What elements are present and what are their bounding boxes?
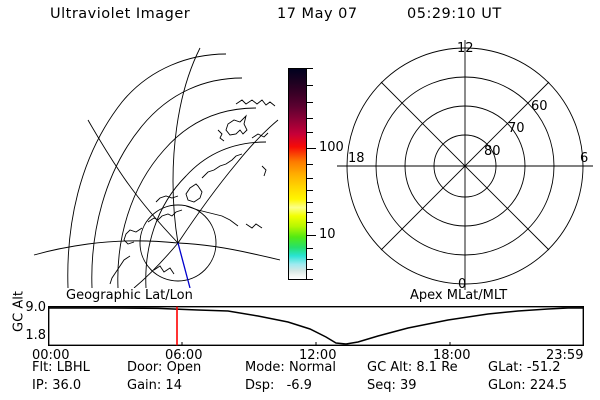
status-mode: Mode: Normal <box>245 360 336 375</box>
colorbar-tick-minor <box>307 178 313 179</box>
orbit-ytick-top: 9.0 <box>18 300 46 315</box>
status-dsp: Dsp: -6.9 <box>245 378 312 393</box>
colorbar-tick-minor <box>307 132 313 133</box>
status-seq: Seq: 39 <box>367 378 417 393</box>
geographic-projection-svg <box>30 38 280 288</box>
status-ip-value: 36.0 <box>52 378 81 393</box>
polar-mlt-label-6: 6 <box>580 151 588 166</box>
orbit-caption-right: Apex MLat/MLT <box>410 288 507 303</box>
colorbar-tick-minor <box>307 222 313 223</box>
status-flt-label: Flt: <box>32 360 53 375</box>
colorbar-tick-minor <box>307 279 313 280</box>
observation-time: 05:29:10 UT <box>407 6 502 22</box>
colorbar-gradient[interactable] <box>288 68 307 280</box>
ultraviolet-imager-window: Ultraviolet Imager 17 May 07 05:29:10 UT <box>0 0 600 400</box>
status-mode-value: Normal <box>289 360 336 375</box>
status-door-value: Open <box>167 360 202 375</box>
colorbar-tick-minor <box>307 269 313 270</box>
geo-lat-arc-2 <box>92 78 242 288</box>
polar-grid-svg: 12 6 0 18 60 70 80 <box>334 38 596 290</box>
orbit-altitude-trace <box>49 308 583 344</box>
intensity-colorbar-group: photon cm-2s-1 100 10 <box>262 60 332 290</box>
instrument-title: Ultraviolet Imager <box>50 6 190 22</box>
observation-date: 17 May 07 <box>277 6 358 22</box>
status-flt-value: LBHL <box>57 360 90 375</box>
geo-lon-5 <box>34 241 178 255</box>
polar-lat-label-60: 60 <box>531 99 548 114</box>
status-glat: GLat: -51.2 <box>488 360 561 375</box>
status-gain-value: 14 <box>165 378 182 393</box>
status-glon: GLon: 224.5 <box>488 378 567 393</box>
colorbar-tick-minor <box>307 85 313 86</box>
orbit-plot-svg <box>48 306 584 346</box>
status-door: Door: Open <box>127 360 201 375</box>
status-gain-label: Gain: <box>127 378 161 393</box>
colorbar-tick-minor <box>307 164 313 165</box>
colorbar-tick-minor <box>307 248 313 249</box>
status-ip-label: IP: <box>32 378 48 393</box>
status-gc-alt-value: 8.1 Re <box>416 360 457 375</box>
orbit-ytick-bottom: 1.8 <box>18 328 46 343</box>
status-dsp-label: Dsp: <box>245 378 274 393</box>
colorbar-tick-minor <box>307 68 313 69</box>
geo-lon-1 <box>173 48 200 243</box>
status-glat-value: -51.2 <box>527 360 561 375</box>
colorbar-tick-minor <box>307 202 313 203</box>
status-glat-label: GLat: <box>488 360 523 375</box>
orbit-plot-area[interactable] <box>48 306 584 346</box>
status-readout-block: Flt: LBHL IP: 36.0 Door: Open Gain: 14 M… <box>0 360 600 400</box>
status-door-label: Door: <box>127 360 162 375</box>
colorbar-tick-major-100 <box>307 148 316 149</box>
colorbar-tick-minor <box>307 212 313 213</box>
polar-mlt-label-12: 12 <box>457 41 474 56</box>
polar-mlt-label-18: 18 <box>348 151 365 166</box>
colorbar-tick-minor <box>307 102 313 103</box>
status-gc-alt: GC Alt: 8.1 Re <box>367 360 458 375</box>
status-seq-label: Seq: <box>367 378 396 393</box>
header-bar: Ultraviolet Imager 17 May 07 05:29:10 UT <box>0 6 600 30</box>
status-mode-label: Mode: <box>245 360 285 375</box>
polar-lat-label-70: 70 <box>508 121 525 136</box>
geo-lat-arc-1 <box>68 54 226 288</box>
status-gc-alt-label: GC Alt: <box>367 360 412 375</box>
apex-mlat-mlt-panel[interactable]: 12 6 0 18 60 70 80 <box>334 38 596 290</box>
status-ip: IP: 36.0 <box>32 378 81 393</box>
status-flt: Flt: LBHL <box>32 360 90 375</box>
status-dsp-value: -6.9 <box>287 378 312 393</box>
colorbar-tick-minor <box>307 118 313 119</box>
status-seq-value: 39 <box>400 378 417 393</box>
status-glon-label: GLon: <box>488 378 526 393</box>
status-glon-value: 224.5 <box>530 378 567 393</box>
orbit-altitude-strip[interactable]: GC Alt 9.0 1.8 Geographic Lat/Lon Apex M… <box>0 288 600 356</box>
geographic-grid <box>34 48 280 288</box>
status-gain: Gain: 14 <box>127 378 182 393</box>
colorbar-tick-minor <box>307 190 313 191</box>
orbit-caption-left: Geographic Lat/Lon <box>66 288 193 303</box>
geographic-image-panel[interactable] <box>30 38 280 288</box>
colorbar-tick-minor <box>307 259 313 260</box>
colorbar-tick-major-10 <box>307 235 316 236</box>
polar-lat-label-80: 80 <box>484 144 501 159</box>
